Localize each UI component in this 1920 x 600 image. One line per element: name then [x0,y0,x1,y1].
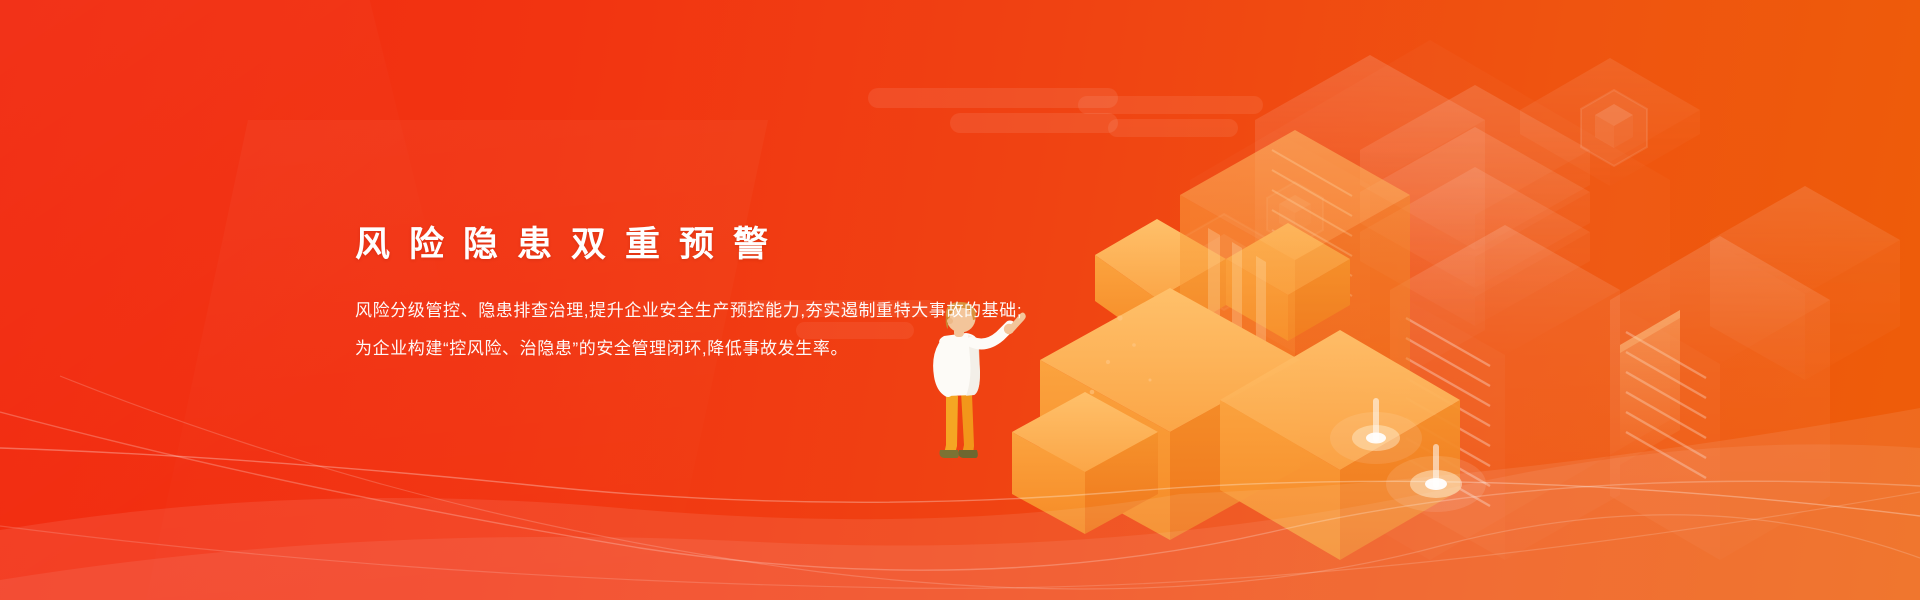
glow-point-upper [1330,398,1422,464]
server-rack-center [1390,225,1620,560]
glow-point-lower [1386,444,1486,512]
cube-far-right [1710,186,1900,380]
cloud-shape-top [868,88,1118,138]
banner-subtitle: 风险分级管控、隐患排查治理,提升企业安全生产预控能力,夯实遏制重特大事故的基础;… [355,292,1055,368]
hexagon-cube-svg [1264,180,1326,248]
small-box-front [1012,392,1158,534]
banner-text-block: 风险隐患双重预警 风险分级管控、隐患排查治理,提升企业安全生产预控能力,夯实遏制… [355,222,1055,368]
block-front-left [1040,288,1300,540]
panel-right-small [1620,310,1680,465]
hexagon-cube-svg [1178,212,1270,312]
wave-line-4 [0,492,1920,588]
sparkle-dots [1090,315,1152,394]
wave-line-2 [0,412,1920,570]
wave-line-1 [0,448,1920,516]
block-front-center [1220,330,1460,560]
hexagon-cube-icon-left [1178,212,1270,317]
hexagon-cube-icon-right [1578,88,1650,173]
wave-line-3 [60,376,1920,589]
subtitle-line-2: 为企业构建“控风险、治隐患”的安全管理闭环,降低事故发生率。 [355,330,1055,368]
subtitle-line-1: 风险分级管控、隐患排查治理,提升企业安全生产预控能力,夯实遏制重特大事故的基础; [355,292,1055,330]
wave-fill-front [0,444,1920,600]
isometric-city-svg [920,0,1920,600]
page-title: 风险隐患双重预警 [355,222,1055,268]
risk-warning-banner: 风险隐患双重预警 风险分级管控、隐患排查治理,提升企业安全生产预控能力,夯实遏制… [0,0,1920,600]
rack-slats [1406,318,1490,506]
cloud-shape-upper-right [1078,96,1263,142]
hexagon-cube-icon-small [1264,180,1326,253]
wave-fill-back [0,408,1920,600]
isometric-city-illustration [920,0,1920,600]
stacked-slabs-center [1360,85,1590,326]
tower-right [1610,236,1830,560]
hexagon-cube-svg [1578,88,1650,168]
